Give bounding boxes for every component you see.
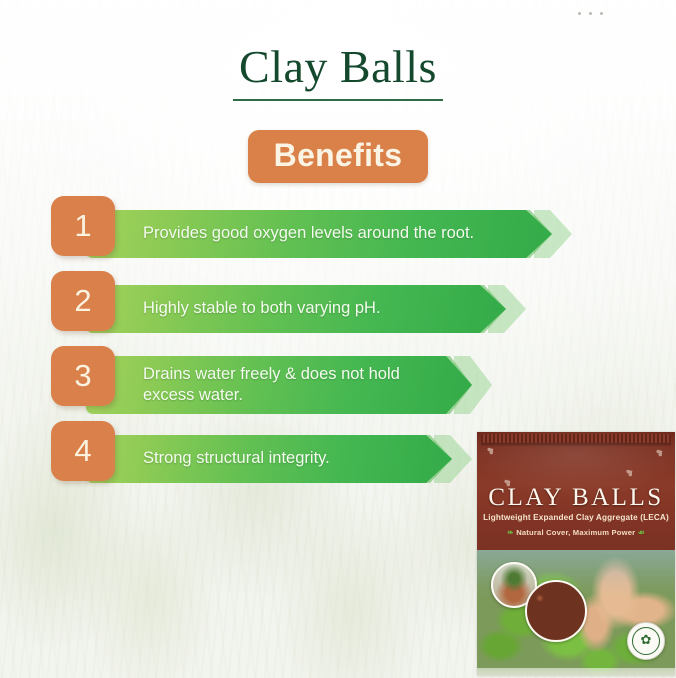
benefits-label-wrapper: Benefits <box>0 130 676 183</box>
infographic-canvas: Clay Balls Benefits Provides good oxygen… <box>0 0 676 678</box>
page-title: Clay Balls <box>233 42 443 101</box>
benefit-row: Drains water freely & does not hold exce… <box>0 346 676 421</box>
benefit-arrow-bar: Provides good oxygen levels around the r… <box>86 210 552 258</box>
dot-3 <box>600 12 603 15</box>
pouch-bottom-seal <box>477 668 675 676</box>
benefit-number-badge: 3 <box>51 346 115 406</box>
dot-2 <box>589 12 592 15</box>
product-package-image: ❥ ❥ ❥ ❥ CLAY BALLS Lightweight Expanded … <box>477 432 675 676</box>
benefit-arrow-bar: Highly stable to both varying pH. <box>86 285 506 333</box>
benefit-row: Highly stable to both varying pH. 2 <box>0 271 676 346</box>
pouch-crimp-seal <box>481 434 671 443</box>
benefit-arrow-bar: Drains water freely & does not hold exce… <box>86 356 472 414</box>
benefit-text: Drains water freely & does not hold exce… <box>86 364 418 406</box>
benefit-number-badge: 2 <box>51 271 115 331</box>
benefit-text: Highly stable to both varying pH. <box>86 298 399 319</box>
page-title-wrapper: Clay Balls <box>0 42 676 101</box>
benefit-number-badge: 1 <box>51 196 115 256</box>
benefit-number-badge: 4 <box>51 421 115 481</box>
logo-emblem-icon: ✿ <box>632 627 660 655</box>
inset-clay-balls-photo <box>525 580 587 642</box>
benefit-text: Provides good oxygen levels around the r… <box>86 223 492 244</box>
benefit-arrow-bar: Strong structural integrity. <box>86 435 452 483</box>
benefit-text: Strong structural integrity. <box>86 448 348 469</box>
benefit-row: Provides good oxygen levels around the r… <box>0 196 676 271</box>
package-subtitle: Lightweight Expanded Clay Aggregate (LEC… <box>477 513 675 522</box>
package-logo-badge: ✿ <box>627 622 665 660</box>
dot-1 <box>578 12 581 15</box>
benefits-badge: Benefits <box>248 130 429 183</box>
top-right-dots <box>578 12 603 15</box>
package-title: CLAY BALLS <box>477 484 675 512</box>
